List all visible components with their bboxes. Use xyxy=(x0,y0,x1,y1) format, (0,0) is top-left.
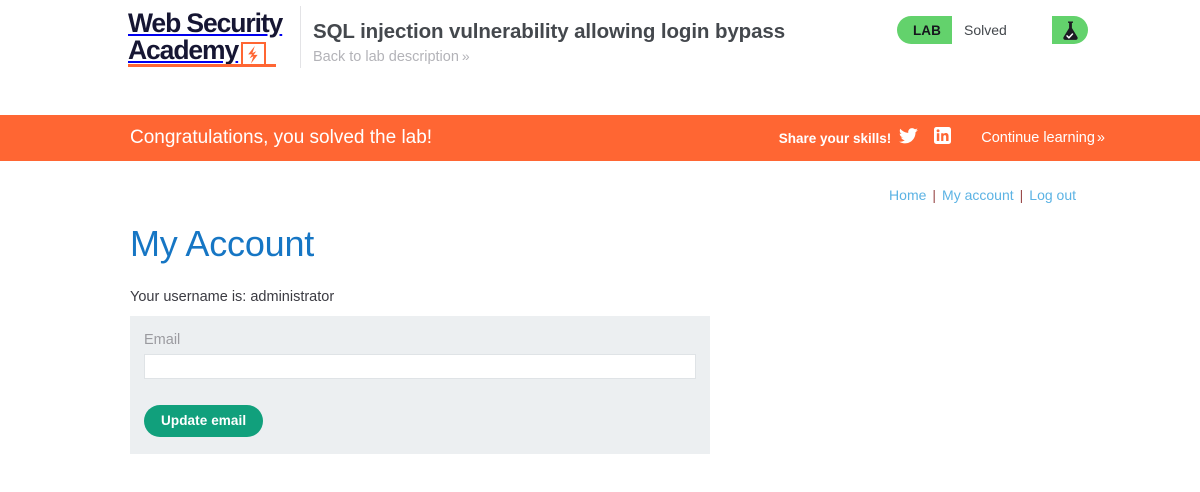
page-title: My Account xyxy=(130,223,314,265)
email-input[interactable] xyxy=(144,354,696,379)
back-link-label: Back to lab description xyxy=(313,49,459,65)
update-email-form: Email Update email xyxy=(130,316,710,454)
username-line: Your username is: administrator xyxy=(130,289,334,305)
chevron-right-icon: » xyxy=(462,48,469,64)
continue-learning-link[interactable]: Continue learning» xyxy=(981,130,1104,146)
twitter-icon xyxy=(899,128,918,149)
lab-status-text: Solved xyxy=(952,16,1052,44)
academy-header: Web Security Academy SQL injection vulne… xyxy=(0,0,1200,115)
header-divider xyxy=(300,6,301,68)
lab-title: SQL injection vulnerability allowing log… xyxy=(313,20,785,44)
flask-check-icon xyxy=(1052,16,1088,44)
lab-solved-banner: Congratulations, you solved the lab! Sha… xyxy=(0,115,1200,161)
nav-separator: | xyxy=(1014,187,1030,203)
linkedin-share-link[interactable] xyxy=(925,123,959,153)
account-nav: Home|My account|Log out xyxy=(889,187,1076,203)
continue-learning-label: Continue learning xyxy=(981,130,1095,146)
lab-badge-label: LAB xyxy=(897,16,952,44)
logo-line-1: Web Security xyxy=(128,10,300,37)
nav-separator: | xyxy=(926,187,942,203)
share-your-skills-label: Share your skills! xyxy=(779,131,892,146)
banner-message: Congratulations, you solved the lab! xyxy=(130,115,432,161)
nav-link-log-out[interactable]: Log out xyxy=(1029,187,1076,203)
update-email-button[interactable]: Update email xyxy=(144,405,263,437)
email-field-label: Email xyxy=(144,332,696,348)
back-to-lab-description-link[interactable]: Back to lab description» xyxy=(313,48,469,65)
banner-actions: Share your skills! Continue learning» xyxy=(779,115,1104,161)
logo-underline xyxy=(128,64,276,67)
lab-status-widget: LAB Solved xyxy=(897,16,1088,44)
nav-link-my-account[interactable]: My account xyxy=(942,187,1014,203)
web-security-academy-logo[interactable]: Web Security Academy xyxy=(128,10,300,68)
nav-link-home[interactable]: Home xyxy=(889,187,926,203)
chevron-right-icon: » xyxy=(1097,130,1104,146)
logo-line-2: Academy xyxy=(128,35,238,65)
linkedin-icon xyxy=(934,127,951,149)
twitter-share-link[interactable] xyxy=(891,123,925,153)
